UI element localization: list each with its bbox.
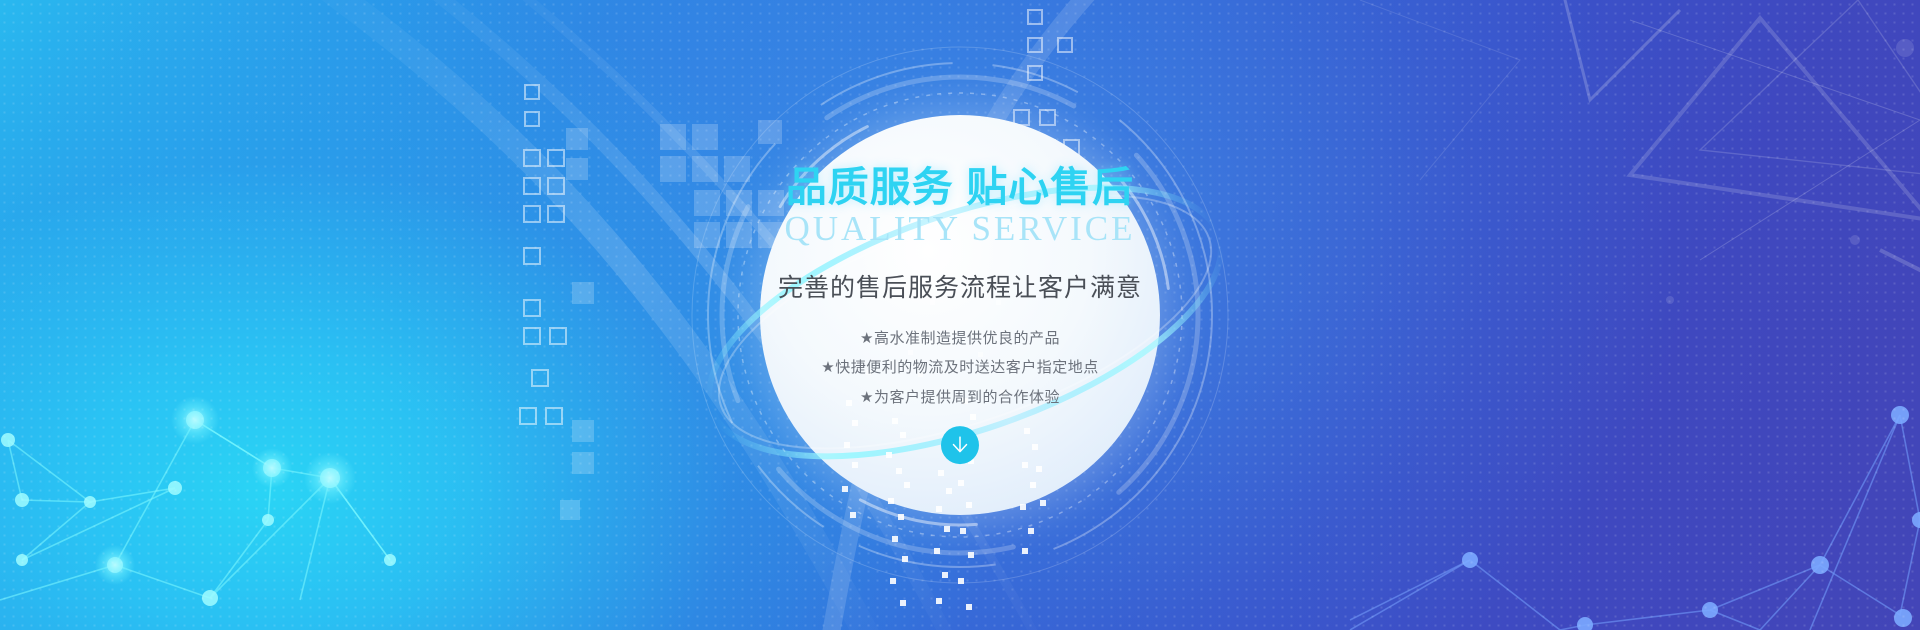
hero-banner: 品质服务 贴心售后 QUALITY SERVICE 完善的售后服务流程让客户满意… bbox=[0, 0, 1920, 630]
list-item: ★高水准制造提供优良的产品 bbox=[700, 324, 1220, 353]
scroll-down-button[interactable] bbox=[941, 426, 979, 464]
banner-title-cn: 品质服务 贴心售后 bbox=[700, 166, 1220, 209]
list-item: ★快捷便利的物流及时送达客户指定地点 bbox=[700, 353, 1220, 382]
list-item: ★为客户提供周到的合作体验 bbox=[700, 383, 1220, 412]
benefit-list: ★高水准制造提供优良的产品 ★快捷便利的物流及时送达客户指定地点 ★为客户提供周… bbox=[700, 324, 1220, 412]
arrow-down-icon bbox=[949, 434, 971, 456]
banner-subtitle: 完善的售后服务流程让客户满意 bbox=[700, 268, 1220, 304]
banner-content: 品质服务 贴心售后 QUALITY SERVICE 完善的售后服务流程让客户满意… bbox=[700, 166, 1220, 464]
banner-title-en: QUALITY SERVICE bbox=[700, 211, 1220, 246]
